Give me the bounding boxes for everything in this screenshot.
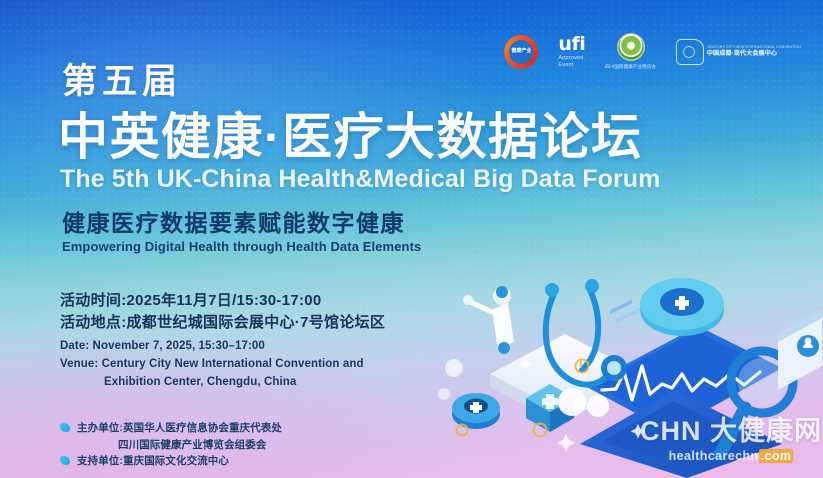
forum-poster: 健康产业 ufi Approved Event 四川国际健康产业博览会 CENT… <box>0 0 823 478</box>
host-organizer-label: 主办单位:英国华人医疗信息协会重庆代表处 <box>77 420 282 435</box>
event-venue-english-line2: Exhibition Center, Chengdu, China <box>104 377 296 389</box>
title-english: The 5th UK-China Health&Medical Big Data… <box>60 167 661 192</box>
patient-card-panel <box>778 248 822 390</box>
ufi-wordmark: ufi <box>558 35 585 54</box>
stethoscope-earpiece <box>545 283 559 297</box>
ufi-logo: ufi Approved Event <box>558 35 585 68</box>
medical-cross-badge <box>640 278 724 336</box>
host-organizer-secondary: 四川国际健康产业博览会组委会 <box>118 437 266 452</box>
medical-device-left <box>452 393 500 429</box>
event-time-chinese: 活动时间:2025年11月7日/15:30-17:00 <box>60 293 322 308</box>
event-venue-english-line1: Venue: Century City New International Co… <box>60 359 364 371</box>
diamond-bullet-icon <box>60 456 70 465</box>
event-date-english: Date: November 7, 2025, 15:30–17:00 <box>60 341 265 353</box>
floating-sphere <box>587 395 609 417</box>
logo-strip: 健康产业 ufi Approved Event 四川国际健康产业博览会 CENT… <box>504 33 801 70</box>
theme-english: Empowering Digital Health through Health… <box>62 240 421 253</box>
event-venue-chinese: 活动地点:成都世纪城国际会展中心·7号馆论坛区 <box>60 315 385 330</box>
floating-sphere <box>445 359 463 377</box>
support-organizer-row: 支持单位:重庆国际文化交流中心 <box>60 453 229 468</box>
host-organizer-row: 主办单位:英国华人医疗信息协会重庆代表处 <box>60 420 282 435</box>
stethoscope-earpiece <box>585 279 599 293</box>
ufi-approved-label: Approved <box>558 56 585 62</box>
green-circle-icon <box>617 33 645 61</box>
floating-sphere <box>438 388 450 400</box>
floating-sphere <box>558 388 586 416</box>
title-chinese: 中英健康·医疗大数据论坛 <box>58 112 643 162</box>
support-organizer-label: 支持单位:重庆国际文化交流中心 <box>77 453 229 468</box>
house-logo-line2: 中国成都·现代大会展中心 <box>707 51 801 58</box>
ring-emblem-logo: 健康产业 <box>504 35 538 69</box>
house-outline-icon <box>676 39 704 65</box>
doctor-figure <box>463 286 514 354</box>
ring-emblem-icon: 健康产业 <box>504 35 538 69</box>
theme-chinese: 健康医疗数据要素赋能数字健康 <box>62 212 405 235</box>
green-circle-caption: 四川国际健康产业博览会 <box>605 64 656 70</box>
diamond-bullet-icon <box>60 423 70 432</box>
house-logo-line1: CENTURY CITY NEW INTERNATIONAL CONVENTIO… <box>707 45 801 49</box>
ufi-event-label: Event <box>558 63 585 69</box>
edition-label: 第五届 <box>62 64 182 99</box>
house-outline-logo: CENTURY CITY NEW INTERNATIONAL CONVENTIO… <box>676 39 801 65</box>
isometric-medical-data-illustration <box>430 248 823 478</box>
ring-emblem-inner-label: 健康产业 <box>509 40 533 64</box>
green-circle-logo: 四川国际健康产业博览会 <box>605 33 656 70</box>
